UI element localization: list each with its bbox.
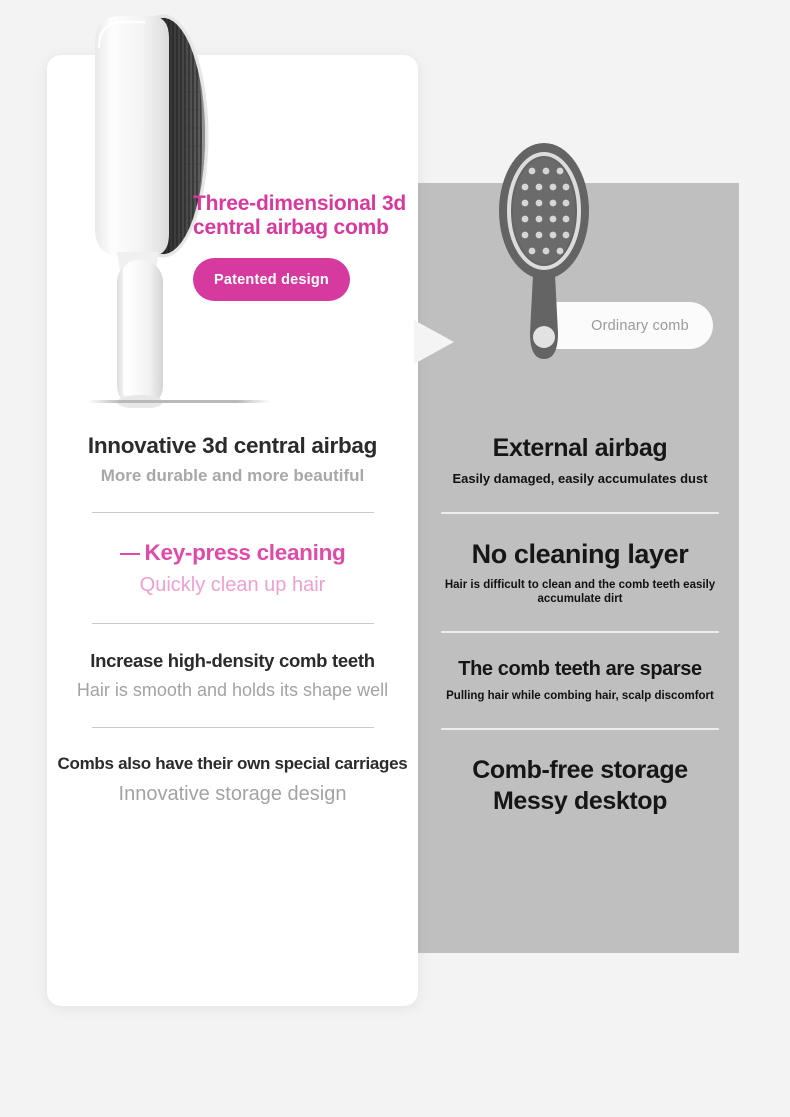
feature-divider bbox=[92, 623, 374, 624]
patented-design-badge[interactable]: Patented design bbox=[193, 258, 350, 301]
dash-accent-icon bbox=[120, 553, 140, 555]
drawback-item-comb-free-storage: Comb-free storage Messy desktop bbox=[430, 755, 730, 818]
feature-divider bbox=[92, 512, 374, 513]
feature-item-airbag: Innovative 3d central airbag More durabl… bbox=[47, 432, 418, 486]
drawback-divider bbox=[441, 728, 719, 730]
feature-title: Innovative 3d central airbag bbox=[47, 432, 418, 459]
feature-item-key-press-cleaning: Key-press cleaning Quickly clean up hair bbox=[47, 539, 418, 597]
infographic-page: Three-dimensional 3d central airbag comb… bbox=[0, 0, 790, 1117]
feature-subtitle: Quickly clean up hair bbox=[47, 573, 418, 597]
hero-headline-block: Three-dimensional 3d central airbag comb… bbox=[193, 192, 408, 301]
arrow-right-chevron-icon bbox=[414, 316, 458, 368]
feature-subtitle: More durable and more beautiful bbox=[47, 466, 418, 486]
feature-title-text: Key-press cleaning bbox=[145, 539, 346, 566]
feature-title-accent: Key-press cleaning bbox=[120, 539, 346, 566]
feature-title: Increase high-density comb teeth bbox=[47, 650, 418, 672]
drawback-divider bbox=[441, 631, 719, 633]
drawback-subtitle: Pulling hair while combing hair, scalp d… bbox=[430, 689, 730, 703]
drawback-divider bbox=[441, 512, 719, 514]
drawback-item-external-airbag: External airbag Easily damaged, easily a… bbox=[430, 434, 730, 487]
drawback-title: Comb-free storage bbox=[430, 755, 730, 786]
ordinary-comb-silhouette-icon bbox=[496, 137, 592, 369]
drawback-item-sparse-teeth: The comb teeth are sparse Pulling hair w… bbox=[430, 658, 730, 703]
feature-subtitle: Hair is smooth and holds its shape well bbox=[47, 680, 418, 702]
drawback-item-no-cleaning-layer: No cleaning layer Hair is difficult to c… bbox=[430, 539, 730, 606]
page-title: Three-dimensional 3d central airbag comb bbox=[193, 192, 408, 239]
feature-item-storage: Combs also have their own special carria… bbox=[47, 754, 418, 805]
feature-title: Combs also have their own special carria… bbox=[47, 754, 418, 774]
feature-item-comb-teeth: Increase high-density comb teeth Hair is… bbox=[47, 650, 418, 701]
drawback-title-secondary: Messy desktop bbox=[430, 786, 730, 817]
product-feature-list: Innovative 3d central airbag More durabl… bbox=[47, 432, 418, 806]
drawback-title: External airbag bbox=[430, 434, 730, 463]
drawback-subtitle: Hair is difficult to clean and the comb … bbox=[430, 578, 730, 606]
feature-divider bbox=[92, 727, 374, 728]
product-shadow-line bbox=[88, 400, 270, 403]
drawback-title: The comb teeth are sparse bbox=[430, 658, 730, 681]
drawback-subtitle: Easily damaged, easily accumulates dust bbox=[430, 471, 730, 487]
drawback-title: No cleaning layer bbox=[430, 539, 730, 570]
feature-subtitle: Innovative storage design bbox=[47, 782, 418, 806]
ordinary-comb-drawback-list: External airbag Easily damaged, easily a… bbox=[430, 434, 730, 817]
